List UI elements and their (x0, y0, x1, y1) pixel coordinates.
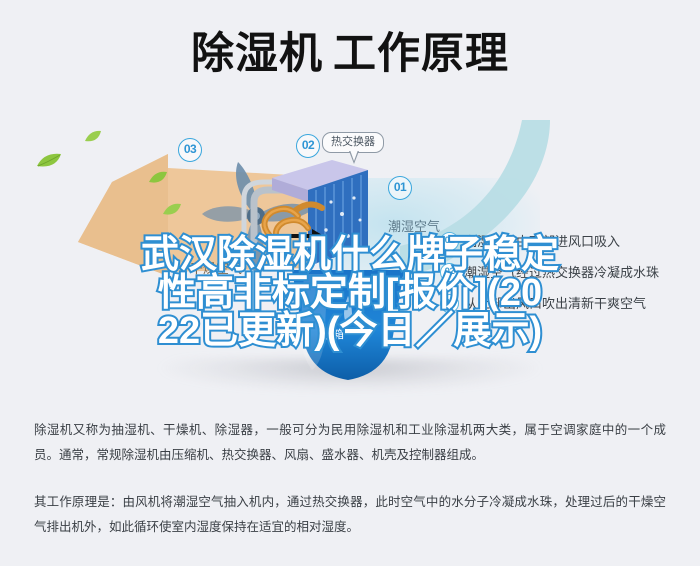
diagram-caption-item: 01 潮湿空气由下部进风口吸入 (440, 232, 700, 251)
paragraph-principle: 其工作原理是：由风机将潮湿空气抽入机内，通过热交换器，此时空气中的水分子冷凝成水… (0, 490, 700, 540)
heat-exchanger-icon (236, 150, 416, 280)
leaf-icon (162, 202, 182, 218)
label-humid-air: 潮湿空气 (388, 216, 440, 235)
working-principle-diagram: 03 02 01 热交换器 干燥空气 潮湿空气 水箱 01 潮湿空气由下部进风口… (0, 120, 700, 385)
hero-illustration: 除湿机工作原理 (0, 0, 700, 400)
caption-number: 01 (440, 232, 459, 251)
diagram-caption-item: 02 潮湿空气经过热交换器冷凝成水珠 (440, 263, 700, 282)
page-title-part2: 工作原理 (333, 30, 509, 78)
caption-number: 02 (440, 263, 459, 282)
paragraph-definition: 除湿机又称为抽湿机、干燥机、除湿器，一般可分为民用除湿机和工业除湿机两大类，属于… (0, 418, 700, 468)
callout-heat-exchanger: 热交换器 (322, 132, 384, 153)
page-title: 除湿机工作原理 (0, 28, 700, 80)
page-title-part1: 除湿机 (191, 30, 323, 78)
diagram-badge-01: 01 (388, 176, 412, 200)
leaf-icon (148, 170, 168, 186)
label-dry-air: 干燥空气 (190, 258, 242, 277)
caption-number: 03 (440, 294, 459, 313)
diagram-caption-list: 01 潮湿空气由下部进风口吸入 02 潮湿空气经过热交换器冷凝成水珠 03 从上… (440, 232, 700, 325)
body-copy: 除湿机又称为抽湿机、干燥机、除湿器，一般可分为民用除湿机和工业除湿机两大类，属于… (0, 418, 700, 540)
diagram-badge-03: 03 (178, 138, 202, 162)
caption-text: 潮湿空气由下部进风口吸入 (464, 234, 620, 250)
leaf-icon (36, 152, 62, 170)
caption-text: 潮湿空气经过热交换器冷凝成水珠 (464, 265, 659, 281)
label-water-tank: 水箱 (322, 326, 344, 342)
leaf-icon (84, 130, 102, 144)
diagram-badge-02: 02 (296, 134, 320, 158)
diagram-caption-item: 03 从上部出风口吹出清新干爽空气 (440, 294, 700, 313)
page-root: 除湿机工作原理 (0, 0, 700, 566)
water-tank-icon (288, 270, 408, 382)
caption-text: 从上部出风口吹出清新干爽空气 (464, 296, 646, 312)
